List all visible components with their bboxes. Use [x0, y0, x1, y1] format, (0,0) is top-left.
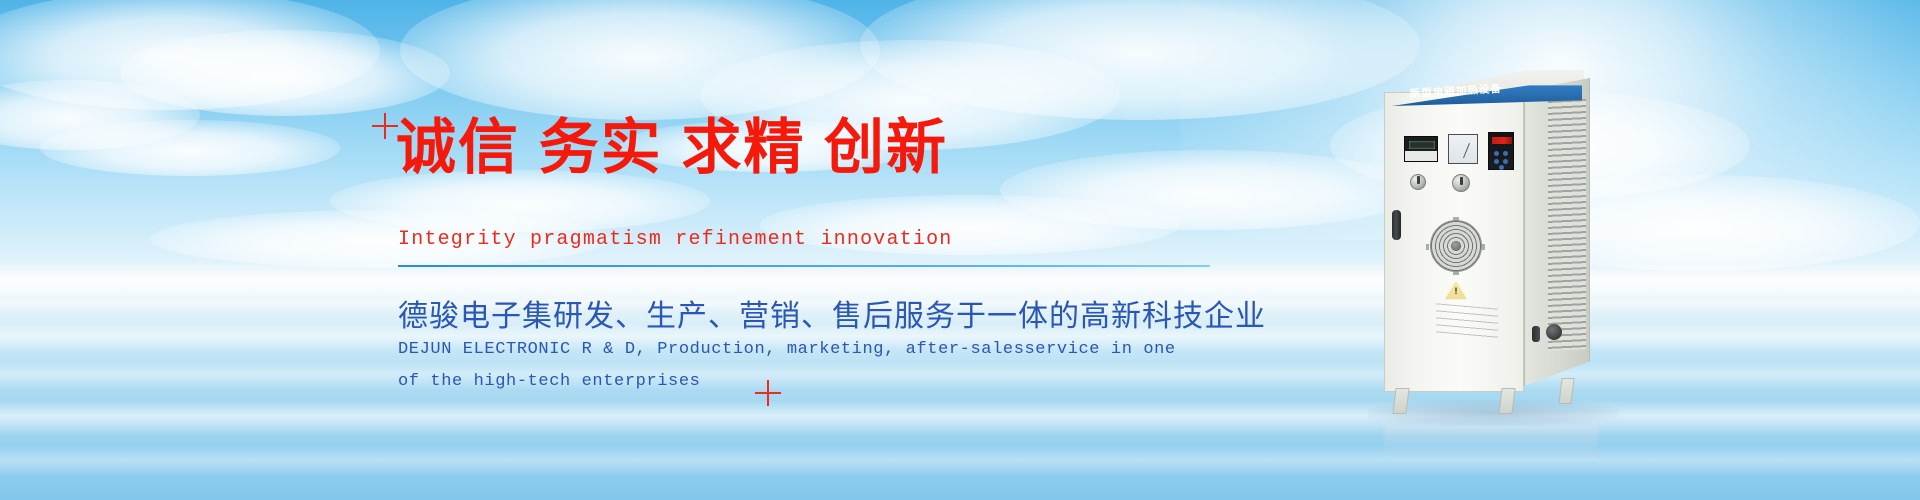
connector-socket-icon: [1546, 324, 1562, 340]
meter-needle: [1463, 143, 1470, 158]
keypad-button: [1494, 159, 1499, 164]
fan-mount-tab: [1426, 244, 1429, 250]
keypad-button: [1499, 165, 1504, 170]
keypad-button: [1494, 151, 1499, 156]
description-english-line1: DEJUN ELECTRONIC R & D, Production, mark…: [398, 340, 1176, 359]
description-english-line2: of the high-tech enterprises: [398, 372, 700, 391]
promotional-banner: 诚信 务实 求精 创新 Integrity pragmatism refinem…: [0, 0, 1920, 500]
specification-text-block: [1436, 303, 1498, 338]
led-readout: [1492, 137, 1512, 144]
switch-handle-icon: [1392, 210, 1401, 240]
headline-chinese: 诚信 务实 求精 创新: [396, 118, 948, 178]
digital-display-icon: [1404, 136, 1438, 162]
fan-grille-icon: [1430, 220, 1482, 272]
ventilation-slots: [1548, 99, 1586, 351]
control-knob-icon: [1410, 174, 1426, 190]
keypad-button: [1503, 151, 1508, 156]
tagline-english: Integrity pragmatism refinement innovati…: [398, 228, 952, 251]
product-machine-image: 新型电磁加热设备: [1378, 70, 1604, 425]
keypad-button: [1503, 159, 1508, 164]
connector-port-icon: [1532, 326, 1540, 342]
keypad-panel-icon: [1488, 132, 1514, 170]
analog-meter-icon: [1448, 134, 1478, 164]
description-chinese: 德骏电子集研发、生产、营销、售后服务于一体的高新科技企业: [398, 291, 1266, 335]
fan-mount-tab: [1453, 272, 1459, 275]
banner-copy: 诚信 务实 求精 创新 Integrity pragmatism refinem…: [0, 0, 1920, 500]
plus-decoration-bottom: [755, 380, 781, 406]
fan-mount-tab: [1482, 244, 1485, 250]
divider-rule: [398, 265, 1210, 267]
control-knob-icon: [1452, 174, 1470, 192]
fan-mount-tab: [1453, 217, 1459, 220]
plus-decoration-top: [372, 113, 398, 139]
display-segment: [1409, 141, 1435, 149]
